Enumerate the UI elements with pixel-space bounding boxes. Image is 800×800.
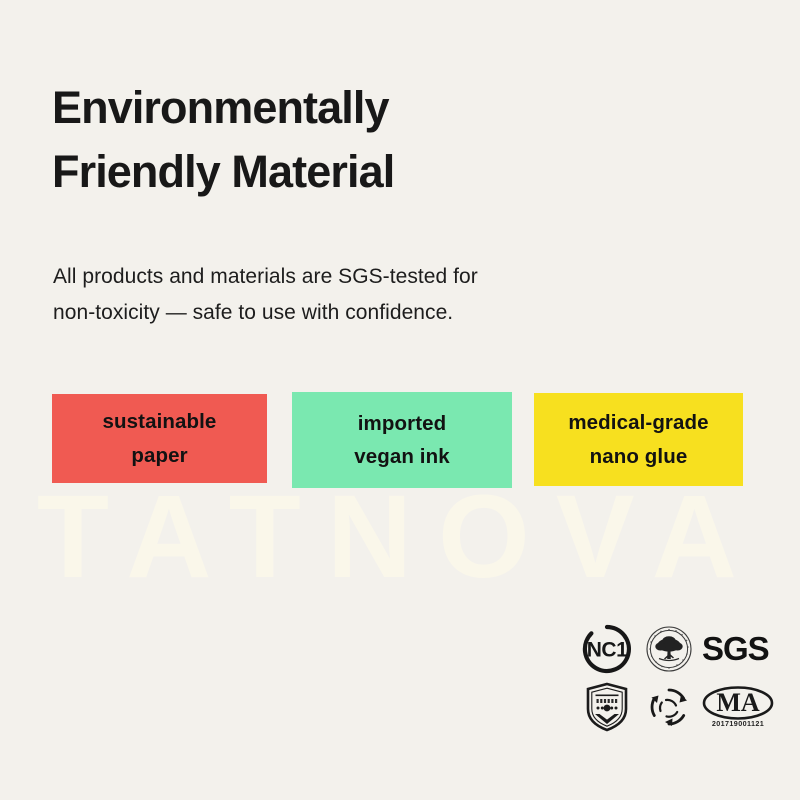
certification-badge-grid: NC1 (576, 620, 776, 746)
cma-wordmark: MA (716, 688, 760, 717)
tag-label-line-1: imported (358, 407, 447, 440)
shield-certification-icon (576, 678, 638, 736)
page-title-line-2: Friendly Material (52, 140, 692, 204)
brand-watermark: TATNOVA (0, 478, 800, 596)
recycling-certification-icon (638, 678, 700, 736)
nc1-certification-icon: NC1 (576, 620, 638, 678)
tag-label-line-1: sustainable (103, 405, 217, 438)
description-line-1: All products and materials are SGS-teste… (53, 259, 673, 295)
sgs-wordmark: SGS (702, 630, 769, 667)
svg-text:NC1: NC1 (587, 639, 628, 662)
page-title: Environmentally Friendly Material (52, 76, 692, 204)
cma-certification-icon: MA 201719001121 (700, 678, 776, 736)
page-title-line-1: Environmentally (52, 76, 692, 140)
cma-certificate-number: 201719001121 (712, 719, 764, 728)
tag-label-line-1: medical-grade (568, 406, 708, 439)
material-tag-imported-vegan-ink[interactable]: imported vegan ink (292, 392, 512, 488)
material-tag-sustainable-paper[interactable]: sustainable paper (52, 394, 267, 483)
description-text: All products and materials are SGS-teste… (53, 259, 673, 331)
tag-label-line-2: nano glue (590, 440, 688, 473)
sgs-certification-icon: SGS (700, 620, 776, 678)
tag-label-line-2: paper (131, 439, 187, 472)
tree-seal-certification-icon (638, 620, 700, 678)
poster-canvas: TATNOVA Environmentally Friendly Materia… (0, 0, 800, 800)
tag-label-line-2: vegan ink (354, 440, 449, 473)
description-line-2: non-toxicity — safe to use with confiden… (53, 295, 673, 331)
material-tag-medical-grade-nano-glue[interactable]: medical-grade nano glue (534, 393, 743, 486)
